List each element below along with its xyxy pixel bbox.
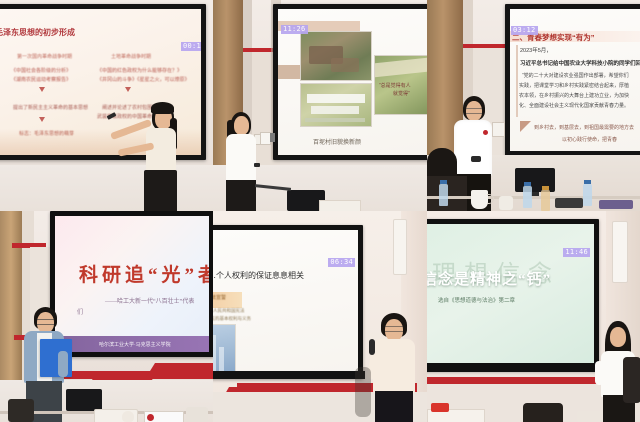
slide-right-heading: 土地革命战争时期 xyxy=(111,53,151,60)
arrow-down-icon xyxy=(39,87,45,92)
clicker xyxy=(254,163,260,167)
trousers xyxy=(375,391,413,422)
torso xyxy=(146,128,176,172)
slide-body-line-1: “党的二十大对建设农业强国作出部署，希望你们 xyxy=(522,72,629,79)
wall-red-accent xyxy=(145,363,213,379)
slide-right-line-2: 《井冈山的斗争》《星星之火，可以燎原》 xyxy=(97,76,190,83)
hair-top xyxy=(151,102,174,114)
glasses-icon xyxy=(37,319,54,325)
photo-panel-4[interactable]: 科研追“光”者 ——哈工大新一代“八百壮士”代表 们 哈尔滨工业大学·马克思主义… xyxy=(0,211,213,422)
water-bottle xyxy=(541,190,550,211)
arrow-down-icon xyxy=(125,87,131,92)
slide-body-line-4: 化、全面建设社会主义现代化国家贡献青春力量。 xyxy=(519,102,629,109)
timestamp-badge: 11:26 xyxy=(281,25,308,34)
desk-monitor xyxy=(515,168,555,192)
torso xyxy=(373,339,415,393)
projector-screen: 科研追“光”者 ——哈工大新一代“八百壮士”代表 们 哈尔滨工业大学·马克思主义… xyxy=(55,216,209,352)
desk-item xyxy=(186,407,208,422)
arm xyxy=(248,146,256,172)
desk-paper xyxy=(319,200,361,211)
head xyxy=(610,327,626,347)
slide-title: …个人权利的保证息息相关 xyxy=(213,270,304,281)
wall-fixture xyxy=(270,133,275,142)
quote-mark-icon xyxy=(520,121,531,132)
classroom-scene-1: 00:10 毛泽东思想的初步形成 第一次国内革命战争时期 《中国社会各阶级的分析… xyxy=(0,0,213,211)
water-bottle xyxy=(523,186,532,208)
photo-grid: 00:10 毛泽东思想的初步形成 第一次国内革命战争时期 《中国社会各阶级的分析… xyxy=(0,0,640,422)
desk-item xyxy=(577,411,603,422)
timestamp-badge: 03:12 xyxy=(511,26,538,35)
slide-body-line-2: 实践，把课堂学习和乡村实践紧密结合起来，厚植 xyxy=(519,82,629,89)
aerial-photo-new-village xyxy=(300,83,372,127)
projector-screen-frame: 11:26 “总是觉得有人 就觉得” xyxy=(273,4,427,160)
desk-monitor xyxy=(66,389,102,411)
projector-screen: 03:12 二、青春梦想实现“有为” 2023年5月， 习近平总书记给中国农业大… xyxy=(510,9,640,151)
wall-panel xyxy=(393,219,407,275)
audience-silhouette xyxy=(623,357,640,403)
shadow xyxy=(355,367,371,417)
wall-speaker xyxy=(612,221,628,283)
chair-back xyxy=(8,399,34,422)
party-badge xyxy=(483,130,488,135)
slide-date-line: 2023年5月， xyxy=(520,46,552,54)
arm xyxy=(58,351,68,377)
arrow-down-icon xyxy=(39,117,45,122)
slide-left-line-1: 《中国社会各阶级的分析》 xyxy=(11,67,71,74)
photo-panel-1[interactable]: 00:10 毛泽东思想的初步形成 第一次国内革命战争时期 《中国社会各阶级的分析… xyxy=(0,0,213,211)
wall-socket xyxy=(492,122,505,137)
projector-screen-frame: 06:34 …个人权利的保证息息相关 宪法宣誓 中华人民共和国宪法 公民的基本权… xyxy=(213,225,363,379)
slide-quote-line-2: 以初心践行使命，把青春 xyxy=(562,136,617,143)
water-bottle xyxy=(439,184,448,206)
classroom-scene-5: 06:34 …个人权利的保证息息相关 宪法宣誓 中华人民共和国宪法 公民的基本权… xyxy=(213,211,427,422)
microphone-base xyxy=(555,198,583,208)
photo-panel-6[interactable]: 11:46 理想信念 信念是精神之“钙” 选自《思想道德与法治》第二章 xyxy=(427,211,640,422)
photo-panel-2[interactable]: 11:26 “总是觉得有人 就觉得” xyxy=(213,0,427,211)
slide-subtitle-line-2: 们 xyxy=(77,307,83,316)
roadside-banner-photo: “总是觉得有人 就觉得” xyxy=(374,55,427,115)
slide-subtitle-line-1: ——哈工大新一代“八百壮士”代表 xyxy=(105,296,194,305)
photo-panel-3[interactable]: 03:12 二、青春梦想实现“有为” 2023年5月， 习近平总书记给中国农业大… xyxy=(427,0,640,211)
glasses-icon xyxy=(466,108,482,114)
screen-bottom-bar xyxy=(427,363,599,372)
slide-inset-image xyxy=(213,324,236,374)
slide-footer-text: 哈尔滨工业大学·马克思主义学院 xyxy=(99,341,171,348)
slide-left-heading: 第一次国内革命战争时期 xyxy=(17,53,72,60)
projector-screen-frame: 科研追“光”者 ——哈工大新一代“八百壮士”代表 们 哈尔滨工业大学·马克思主义… xyxy=(50,211,213,357)
tea-cup xyxy=(499,196,513,210)
slide-title: 科研追“光”者 xyxy=(79,260,209,287)
projector-screen: 06:34 …个人权利的保证息息相关 宪法宣誓 中华人民共和国宪法 公民的基本权… xyxy=(213,230,358,374)
timestamp-badge: 00:10 xyxy=(181,42,201,51)
slide-inset-line-1: 中华人民共和国宪法 xyxy=(213,308,245,314)
classroom-scene-3: 03:12 二、青春梦想实现“有为” 2023年5月， 习近平总书记给中国农业大… xyxy=(427,0,640,211)
arm xyxy=(595,361,604,385)
slide-right-line-1: 《中国的红色政权为什么能够存在？》 xyxy=(97,67,182,74)
tea-cup xyxy=(471,190,488,209)
aerial-photo-old-village xyxy=(300,31,372,81)
table-edge xyxy=(427,196,640,199)
skirt xyxy=(144,170,177,211)
torso xyxy=(454,120,492,176)
classroom-scene-2: 11:26 “总是觉得有人 就觉得” xyxy=(213,0,427,211)
slide-lead-line: 习近平总书记给中国农业大学科技小院的同学们回信 xyxy=(520,59,640,67)
red-book xyxy=(431,403,449,412)
slide-body-line-3: 农本领，在乡村振兴的大舞台上建功立业，为加快 xyxy=(519,92,629,99)
tea-cup xyxy=(122,411,134,422)
slide-title: 信念是精神之“钙” xyxy=(427,268,551,289)
projector-screen: 11:46 理想信念 信念是精神之“钙” 选自《思想道德与法治》第二章 xyxy=(427,224,594,366)
screen-bottom-bar xyxy=(213,371,365,379)
microphone-icon xyxy=(369,339,375,355)
classroom-scene-6: 11:46 理想信念 信念是精神之“钙” 选自《思想道德与法治》第二章 xyxy=(427,211,640,422)
slide-inset-heading: 宪法宣誓 xyxy=(213,294,226,301)
slide-caption: 百坭村旧貌换新颜 xyxy=(313,137,361,146)
slide-left-line-3: 提出了新民主主义革命的基本思想 xyxy=(13,104,88,111)
projector-screen-frame: 03:12 二、青春梦想实现“有为” 2023年5月， 习近平总书记给中国农业大… xyxy=(505,4,640,156)
desk-item xyxy=(599,200,633,209)
timestamp-badge: 06:34 xyxy=(328,258,355,267)
head xyxy=(234,116,249,135)
trousers xyxy=(226,180,256,211)
floor-band xyxy=(0,165,213,211)
photo-panel-5[interactable]: 06:34 …个人权利的保证息息相关 宪法宣誓 中华人民共和国宪法 公民的基本权… xyxy=(213,211,427,422)
clicker xyxy=(471,156,481,162)
chair-back xyxy=(523,403,563,422)
slide-left-line-2: 《湖南农民运动考察报告》 xyxy=(11,76,71,83)
name-plate xyxy=(144,411,184,422)
classroom-scene-4: 科研追“光”者 ——哈工大新一代“八百壮士”代表 们 哈尔滨工业大学·马克思主义… xyxy=(0,211,213,422)
projector-screen-frame: 11:46 理想信念 信念是精神之“钙” 选自《思想道德与法治》第二章 xyxy=(427,219,599,371)
glasses-icon xyxy=(385,326,403,332)
projector-screen: 11:26 “总是觉得有人 就觉得” xyxy=(278,9,427,155)
slide-title: 毛泽东思想的初步形成 xyxy=(0,27,75,38)
slide-quote-line-1: 到乡村去，到基层去，到祖国最需要的地方去 xyxy=(534,124,634,131)
slide-subtitle: 选自《思想道德与法治》第二章 xyxy=(438,296,515,304)
slide-inset-line-2: 公民的基本权利与义务 xyxy=(213,316,251,322)
water-bottle xyxy=(583,184,592,206)
timestamp-badge: 11:46 xyxy=(563,248,590,257)
